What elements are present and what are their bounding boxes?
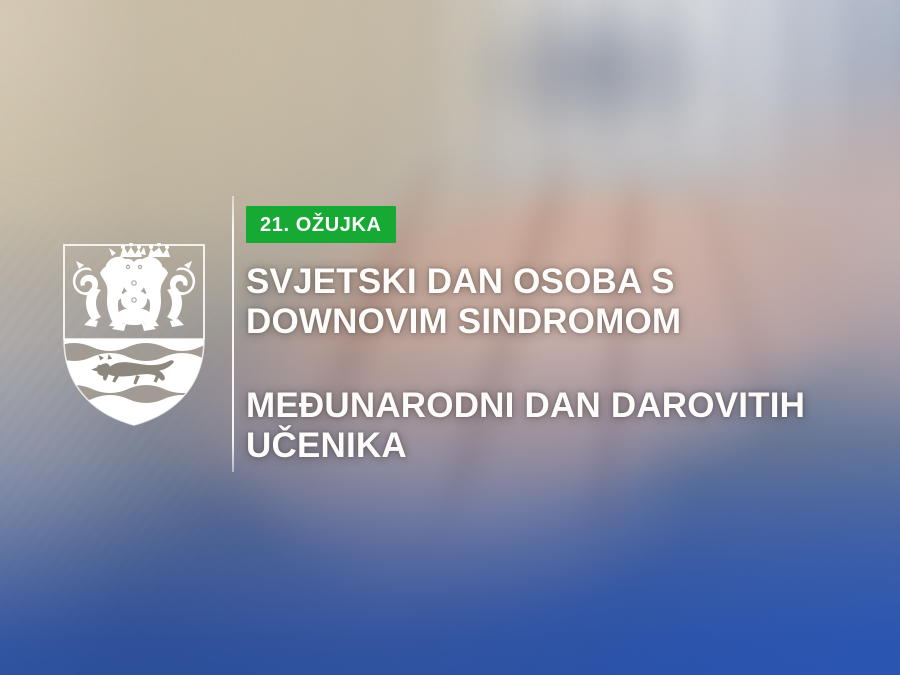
headline-secondary: MEĐUNARODNI DAN DAROVITIH UČENIKA	[246, 386, 876, 466]
poster-banner: 21. OŽUJKA SVJETSKI DAN OSOBA S DOWNOVIM…	[0, 0, 900, 675]
vertical-divider	[232, 196, 234, 472]
coat-of-arms-icon	[62, 243, 206, 427]
headline-primary: SVJETSKI DAN OSOBA S DOWNOVIM SINDROMOM	[246, 262, 876, 342]
headline-secondary-line-2: UČENIKA	[246, 426, 876, 466]
headline-secondary-line-1: MEĐUNARODNI DAN DAROVITIH	[246, 386, 876, 426]
date-badge: 21. OŽUJKA	[246, 206, 396, 243]
headline-primary-line-1: SVJETSKI DAN OSOBA S	[246, 262, 876, 302]
text-content: 21. OŽUJKA SVJETSKI DAN OSOBA S DOWNOVIM…	[246, 206, 876, 466]
headline-primary-line-2: DOWNOVIM SINDROMOM	[246, 302, 876, 342]
